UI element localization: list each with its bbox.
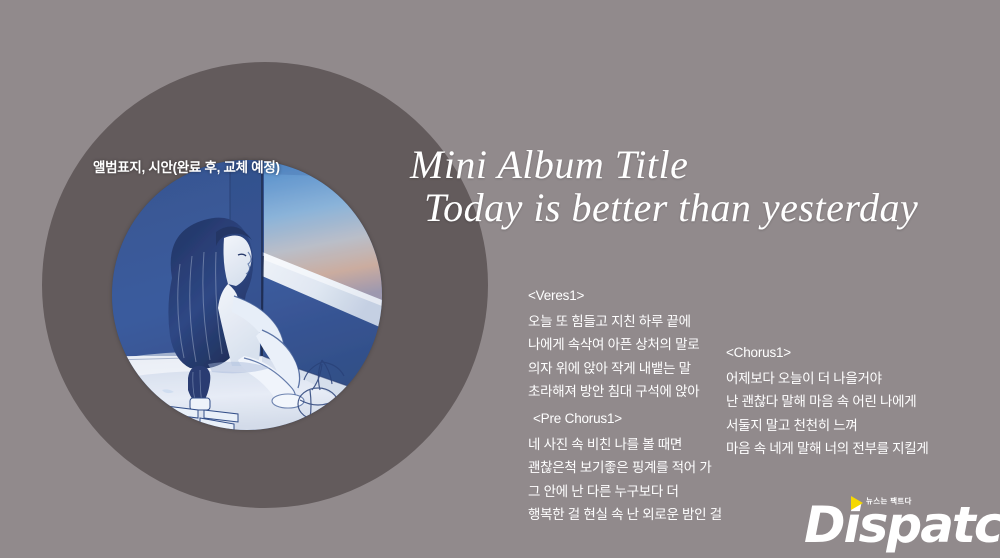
- lyric-line: 마음 속 네게 말해 너의 전부를 지킬게: [726, 437, 929, 460]
- title-line-secondary: Today is better than yesterday: [410, 186, 918, 229]
- dispatch-wordmark-text: Dispatch: [804, 500, 1000, 550]
- lyric-line: 의자 위에 앉아 작게 내뱉는 말: [528, 357, 699, 380]
- lyric-section-heading: <Pre Chorus1>: [528, 411, 722, 426]
- lyric-section-prechorus1: <Pre Chorus1> 네 사진 속 비친 나를 볼 때면 괜찮은척 보기좋…: [528, 411, 722, 527]
- lyric-line: 나에게 속삭여 아픈 상처의 말로: [528, 333, 699, 356]
- page-title: Mini Album Title Today is better than ye…: [410, 143, 918, 229]
- album-lyrics-card: 앨범표지, 시안(완료 후, 교체 예정) Mini Album Title T…: [0, 0, 1000, 558]
- lyric-line: 서둘지 말고 천천히 느껴: [726, 414, 929, 437]
- lyric-line: 어제보다 오늘이 더 나을거야: [726, 367, 929, 390]
- lyric-line: 오늘 또 힘들고 지친 하루 끝에: [528, 310, 699, 333]
- lyric-section-chorus1: <Chorus1> 어제보다 오늘이 더 나을거야 난 괜찮다 말해 마음 속 …: [726, 345, 929, 461]
- lyric-line: 그 안에 난 다른 누구보다 더: [528, 480, 722, 503]
- play-triangle-icon: [851, 496, 863, 510]
- album-cover-caption: 앨범표지, 시안(완료 후, 교체 예정): [93, 156, 280, 176]
- lyric-line: 행복한 걸 현실 속 난 외로운 밤인 걸: [528, 503, 722, 526]
- title-line-primary: Mini Album Title: [410, 143, 918, 186]
- album-cover-artwork: [112, 160, 382, 430]
- lyric-line: 난 괜찮다 말해 마음 속 어린 나에게: [726, 390, 929, 413]
- lyric-section-verse1: <Veres1> 오늘 또 힘들고 지친 하루 끝에 나에게 속삭여 아픈 상처…: [528, 288, 699, 404]
- lyric-line: 괜찮은척 보기좋은 핑계를 적어 가: [528, 456, 722, 479]
- dispatch-logo: Dispatch 뉴스는 팩트다: [804, 488, 986, 552]
- dispatch-tagline-text: 뉴스는 팩트다: [866, 496, 912, 506]
- lyric-line: 초라해져 방안 침대 구석에 앉아: [528, 380, 699, 403]
- lyric-line: 네 사진 속 비친 나를 볼 때면: [528, 433, 722, 456]
- lyric-section-heading: <Veres1>: [528, 288, 699, 303]
- lyric-section-heading: <Chorus1>: [726, 345, 929, 360]
